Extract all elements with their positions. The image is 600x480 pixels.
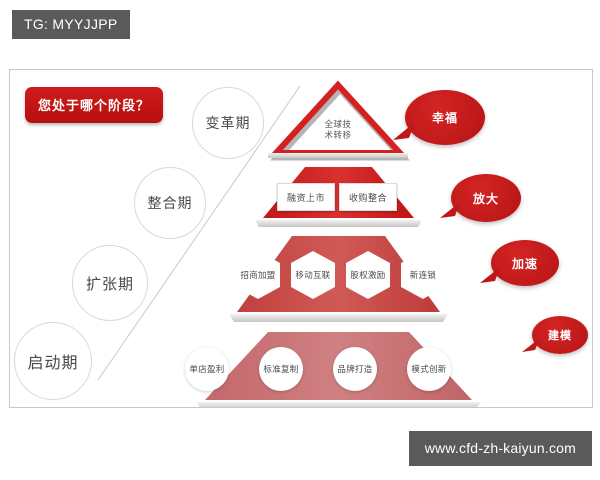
tier3-node-label: 招商加盟 bbox=[240, 269, 275, 281]
callout-label: 加速 bbox=[512, 255, 538, 272]
callout-tail-icon bbox=[522, 336, 540, 354]
tier2-node[interactable]: 收购整合 bbox=[339, 183, 397, 211]
tier4-node-label: 品牌打造 bbox=[337, 363, 372, 375]
tier4-node[interactable]: 标准复制 bbox=[259, 347, 303, 391]
callout-label: 建模 bbox=[548, 327, 572, 343]
tier3-node-label: 股权激励 bbox=[350, 269, 385, 281]
tier3-node-label: 移动互联 bbox=[295, 269, 330, 281]
tg-tag-label: TG: MYYJJPP bbox=[24, 16, 118, 32]
callout-happiness[interactable]: 幸福 bbox=[405, 90, 485, 145]
callout-accelerate[interactable]: 加速 bbox=[491, 240, 559, 286]
tier4-node-label: 模式创新 bbox=[411, 363, 446, 375]
tg-tag: TG: MYYJJPP bbox=[12, 10, 130, 39]
pyramid-apex-label: 全球技 术转移 bbox=[308, 120, 368, 142]
apex-label-line1: 全球技 bbox=[308, 120, 368, 131]
callout-tail-icon bbox=[393, 120, 415, 142]
tier4-node[interactable]: 品牌打造 bbox=[333, 347, 377, 391]
pyramid-graphic bbox=[10, 70, 592, 407]
site-watermark-label: www.cfd-zh-kaiyun.com bbox=[425, 440, 576, 456]
tier4-node-label: 标准复制 bbox=[263, 363, 298, 375]
tier2-node[interactable]: 融资上市 bbox=[277, 183, 335, 211]
callout-amplify[interactable]: 放大 bbox=[451, 174, 521, 222]
tier3-node-label: 新连锁 bbox=[410, 269, 436, 281]
tier4-node[interactable]: 模式创新 bbox=[407, 347, 451, 391]
callout-label: 放大 bbox=[473, 190, 499, 207]
tier2-node-label: 收购整合 bbox=[349, 191, 387, 204]
callout-label: 幸福 bbox=[432, 109, 458, 126]
tier4-node-label: 单店盈利 bbox=[189, 363, 224, 375]
tier4-node[interactable]: 单店盈利 bbox=[185, 347, 229, 391]
site-watermark: www.cfd-zh-kaiyun.com bbox=[409, 431, 592, 466]
callout-tail-icon bbox=[440, 200, 460, 220]
tier2-node-label: 融资上市 bbox=[287, 191, 325, 204]
diagram-card: 您处于哪个阶段？ 变革期 整合期 扩张期 启动期 bbox=[9, 69, 593, 408]
apex-label-line2: 术转移 bbox=[308, 131, 368, 142]
callout-tail-icon bbox=[480, 265, 500, 285]
callout-modeling[interactable]: 建模 bbox=[532, 316, 588, 354]
